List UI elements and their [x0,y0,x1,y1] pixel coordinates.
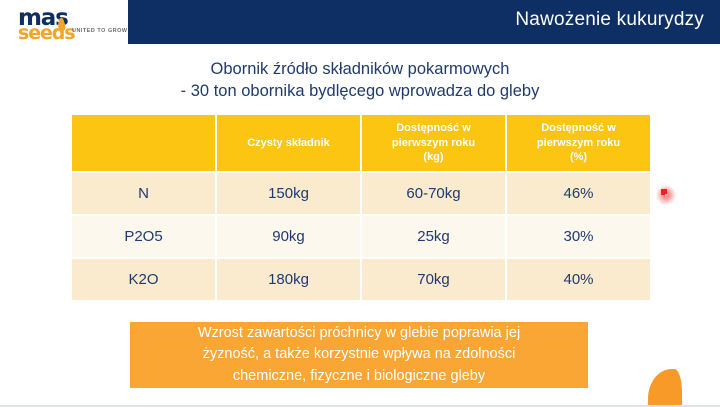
header-title: Nawożenie kukurydzy [515,9,704,31]
header-avail-pct-line-1: Dostępność w [507,121,650,136]
cell-avail-kg: 25kg [362,216,505,257]
cell-avail-kg: 70kg [362,259,505,300]
table-header-row: Czysty składnik Dostępność w pierwszym r… [72,115,650,171]
table-header-cell-blank [72,115,215,171]
cell-avail-pct: 46% [507,173,650,214]
callout-line-2: żyzność, a także korzystnie wpływa na zd… [190,344,528,365]
header-avail-pct-line-2: pierwszym roku [507,136,650,151]
table-header-cell-avail-pct: Dostępność w pierwszym roku (%) [507,115,650,171]
cell-avail-pct: 40% [507,259,650,300]
nutrient-table: Czysty składnik Dostępność w pierwszym r… [70,113,652,302]
brand-logo: mas seeds UNITED TO GROW [0,0,128,44]
header-avail-kg-line-3: (kg) [362,150,505,165]
table-header-cell-pure: Czysty składnik [217,115,360,171]
cell-nutrient: P2O5 [72,216,215,257]
callout-line-3: chemiczne, fizyczne i biologiczne gleby [190,366,528,387]
cell-pure: 180kg [217,259,360,300]
cursor-pointer-icon [660,189,672,201]
cell-nutrient: N [72,173,215,214]
header-bar: Nawożenie kukurydzy [128,0,720,44]
table-header-cell-avail-kg: Dostępność w pierwszym roku (kg) [362,115,505,171]
callout-line-1: Wzrost zawartości próchnicy w glebie pop… [190,323,528,344]
summary-callout-text: Wzrost zawartości próchnicy w glebie pop… [190,323,528,386]
cell-avail-pct: 30% [507,216,650,257]
slide-title: Obornik źródło składników pokarmowych - … [0,58,720,103]
cell-pure: 150kg [217,173,360,214]
logo-tagline: UNITED TO GROW [72,28,128,34]
leaf-decoration-icon [648,369,682,407]
cursor-arrow [665,194,669,200]
table-row: K2O 180kg 70kg 40% [72,259,650,300]
cell-avail-kg: 60-70kg [362,173,505,214]
summary-callout: Wzrost zawartości próchnicy w glebie pop… [130,322,588,388]
slide-canvas: Nawożenie kukurydzy mas seeds UNITED TO … [0,0,720,407]
cell-nutrient: K2O [72,259,215,300]
slide-title-line-2: - 30 ton obornika bydlęcego wprowadza do… [0,80,720,102]
table-header: Czysty składnik Dostępność w pierwszym r… [72,115,650,171]
slide-title-line-1: Obornik źródło składników pokarmowych [0,58,720,80]
logo-wordmark-bottom: seeds [18,24,75,43]
header-avail-kg-line-2: pierwszym roku [362,136,505,151]
cell-pure: 90kg [217,216,360,257]
table-row: P2O5 90kg 25kg 30% [72,216,650,257]
header-avail-kg-line-1: Dostępność w [362,121,505,136]
header-avail-pct-line-3: (%) [507,150,650,165]
table-row: N 150kg 60-70kg 46% [72,173,650,214]
table-body: N 150kg 60-70kg 46% P2O5 90kg 25kg 30% K… [72,173,650,300]
